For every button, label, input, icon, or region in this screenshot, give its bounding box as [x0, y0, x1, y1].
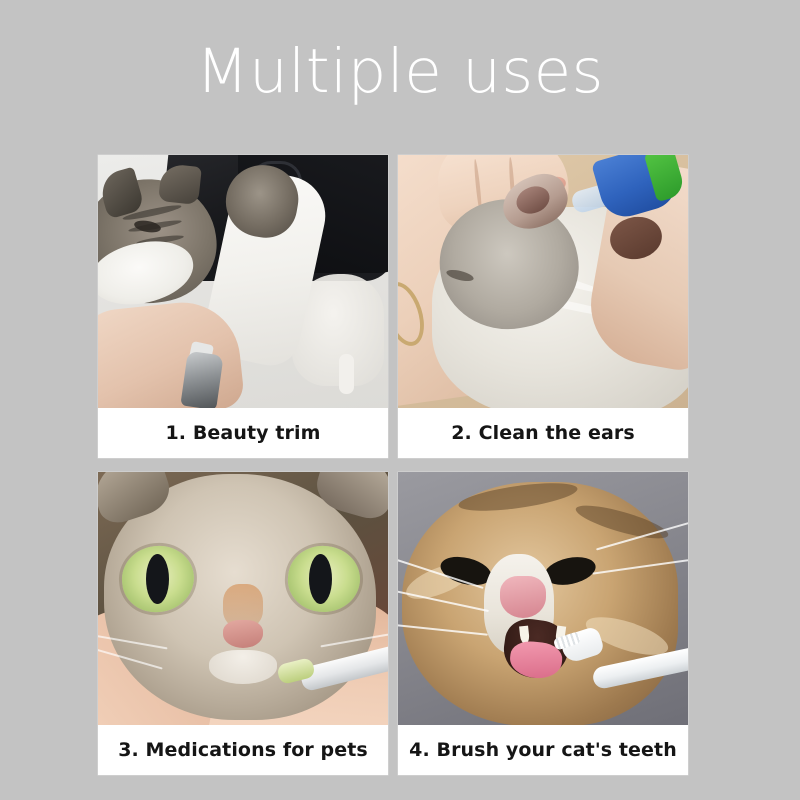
photo-medications-for-pets: [98, 472, 388, 725]
promo-image-root: Multiple uses: [0, 0, 800, 800]
cat-pupil-right: [309, 554, 332, 604]
photo-beauty-trim: [98, 155, 388, 408]
caption-2: 2. Clean the ears: [398, 408, 688, 458]
cat-pupil-left: [146, 554, 169, 604]
page-title: Multiple uses: [0, 36, 800, 108]
second-cat-leg: [339, 354, 354, 394]
use-card-1[interactable]: 1. Beauty trim: [98, 155, 388, 458]
uses-grid: 1. Beauty trim: [98, 155, 688, 775]
use-card-4[interactable]: 4. Brush your cat's teeth: [398, 472, 688, 775]
photo-clean-the-ears: [398, 155, 688, 408]
cat-muzzle: [209, 650, 277, 684]
nail-clipper: [180, 351, 223, 408]
use-card-2[interactable]: 2. Clean the ears: [398, 155, 688, 458]
use-card-3[interactable]: 3. Medications for pets: [98, 472, 388, 775]
cat-nose: [500, 576, 546, 618]
photo-brush-your-cats-teeth: [398, 472, 688, 725]
caption-3: 3. Medications for pets: [98, 725, 388, 775]
caption-4: 4. Brush your cat's teeth: [398, 725, 688, 775]
caption-1: 1. Beauty trim: [98, 408, 388, 458]
cat-nose: [223, 620, 263, 648]
